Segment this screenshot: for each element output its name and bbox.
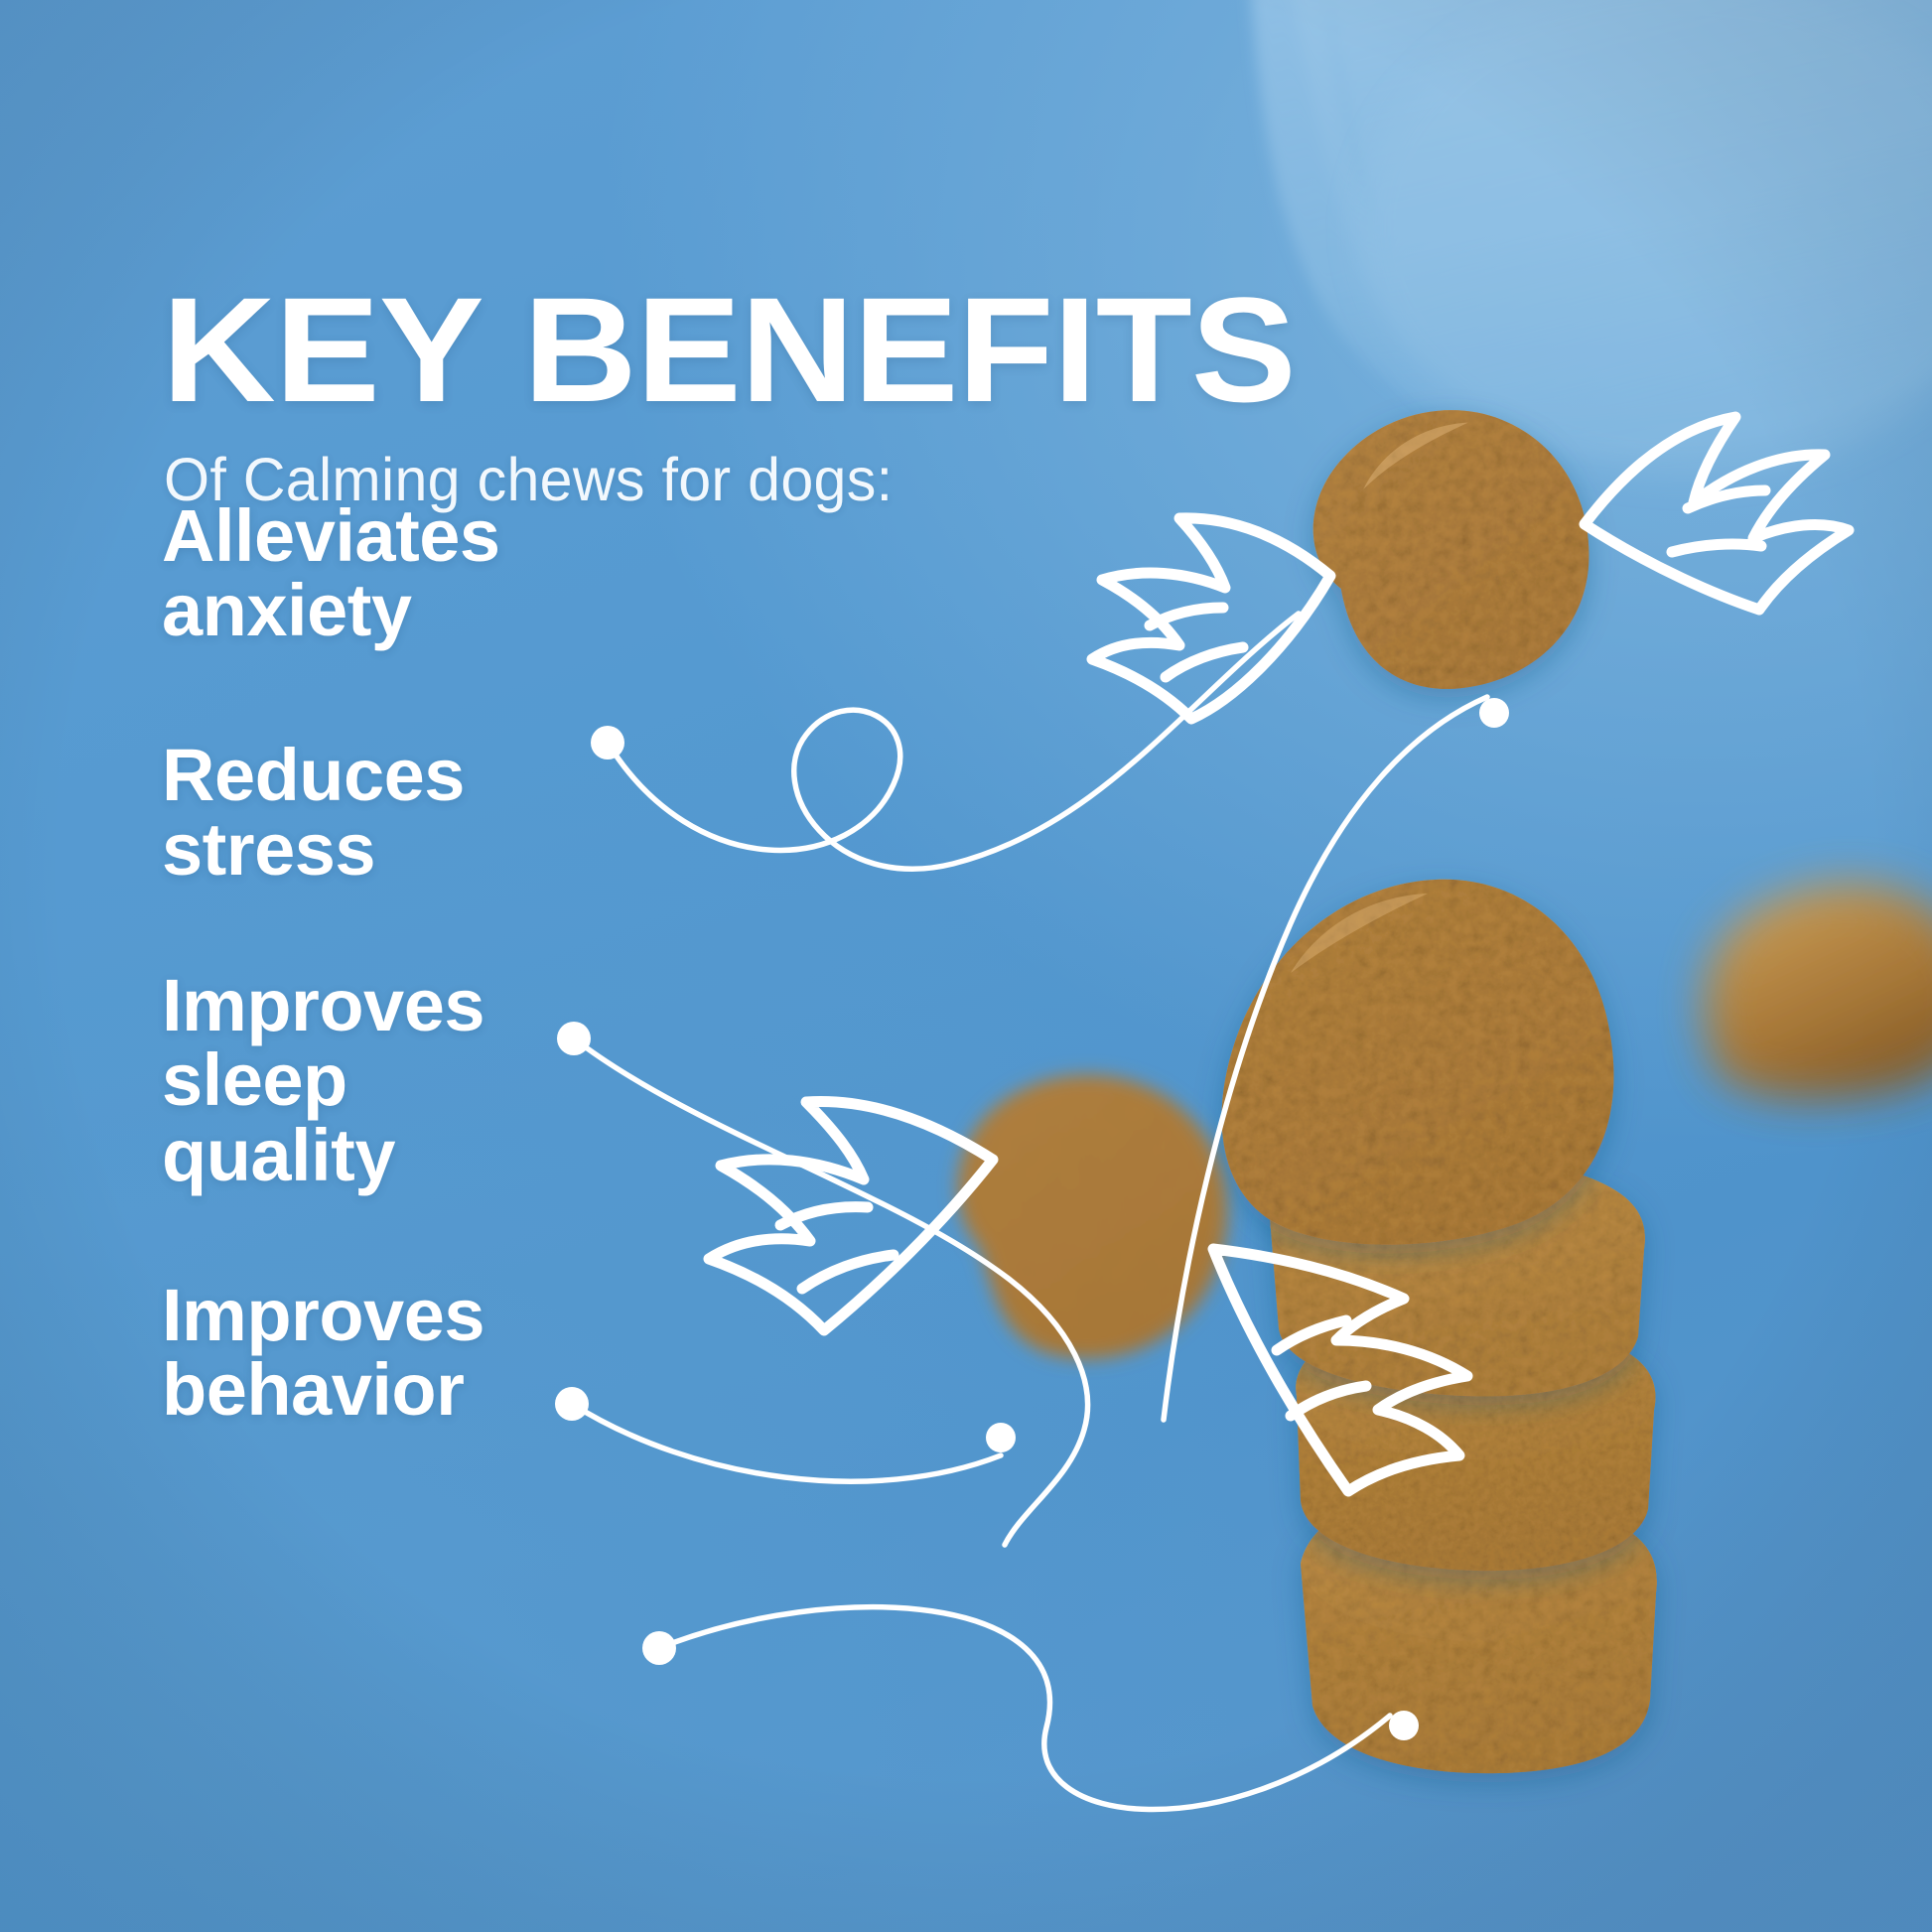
connector-anxiety <box>591 614 1509 869</box>
connector-dot-stress-left <box>557 1022 591 1055</box>
connector-stress-arc <box>1164 697 1487 1420</box>
benefit-item-alleviates-anxiety: Alleviates anxiety <box>162 498 500 648</box>
connector-stress <box>557 1022 1088 1545</box>
connector-dot-sleep-left <box>555 1387 589 1421</box>
benefit-item-reduces-stress: Reduces stress <box>162 738 465 888</box>
poster-canvas: KEY BENEFITS Of Calming chews for dogs: … <box>0 0 1932 1932</box>
connector-dot-behavior-left <box>642 1631 676 1665</box>
connector-dot-sleep-right <box>986 1423 1016 1452</box>
connector-sleep <box>555 1387 1016 1481</box>
page-title: KEY BENEFITS <box>162 275 1296 424</box>
connector-behavior <box>642 1607 1419 1810</box>
connector-dot-behavior-right <box>1389 1711 1419 1740</box>
connector-dot-anxiety-right <box>1479 698 1509 728</box>
benefit-item-improves-behavior: Improves behavior <box>162 1278 484 1428</box>
benefit-item-improves-sleep: Improves sleep quality <box>162 968 484 1192</box>
connector-dot-anxiety-left <box>591 726 624 759</box>
